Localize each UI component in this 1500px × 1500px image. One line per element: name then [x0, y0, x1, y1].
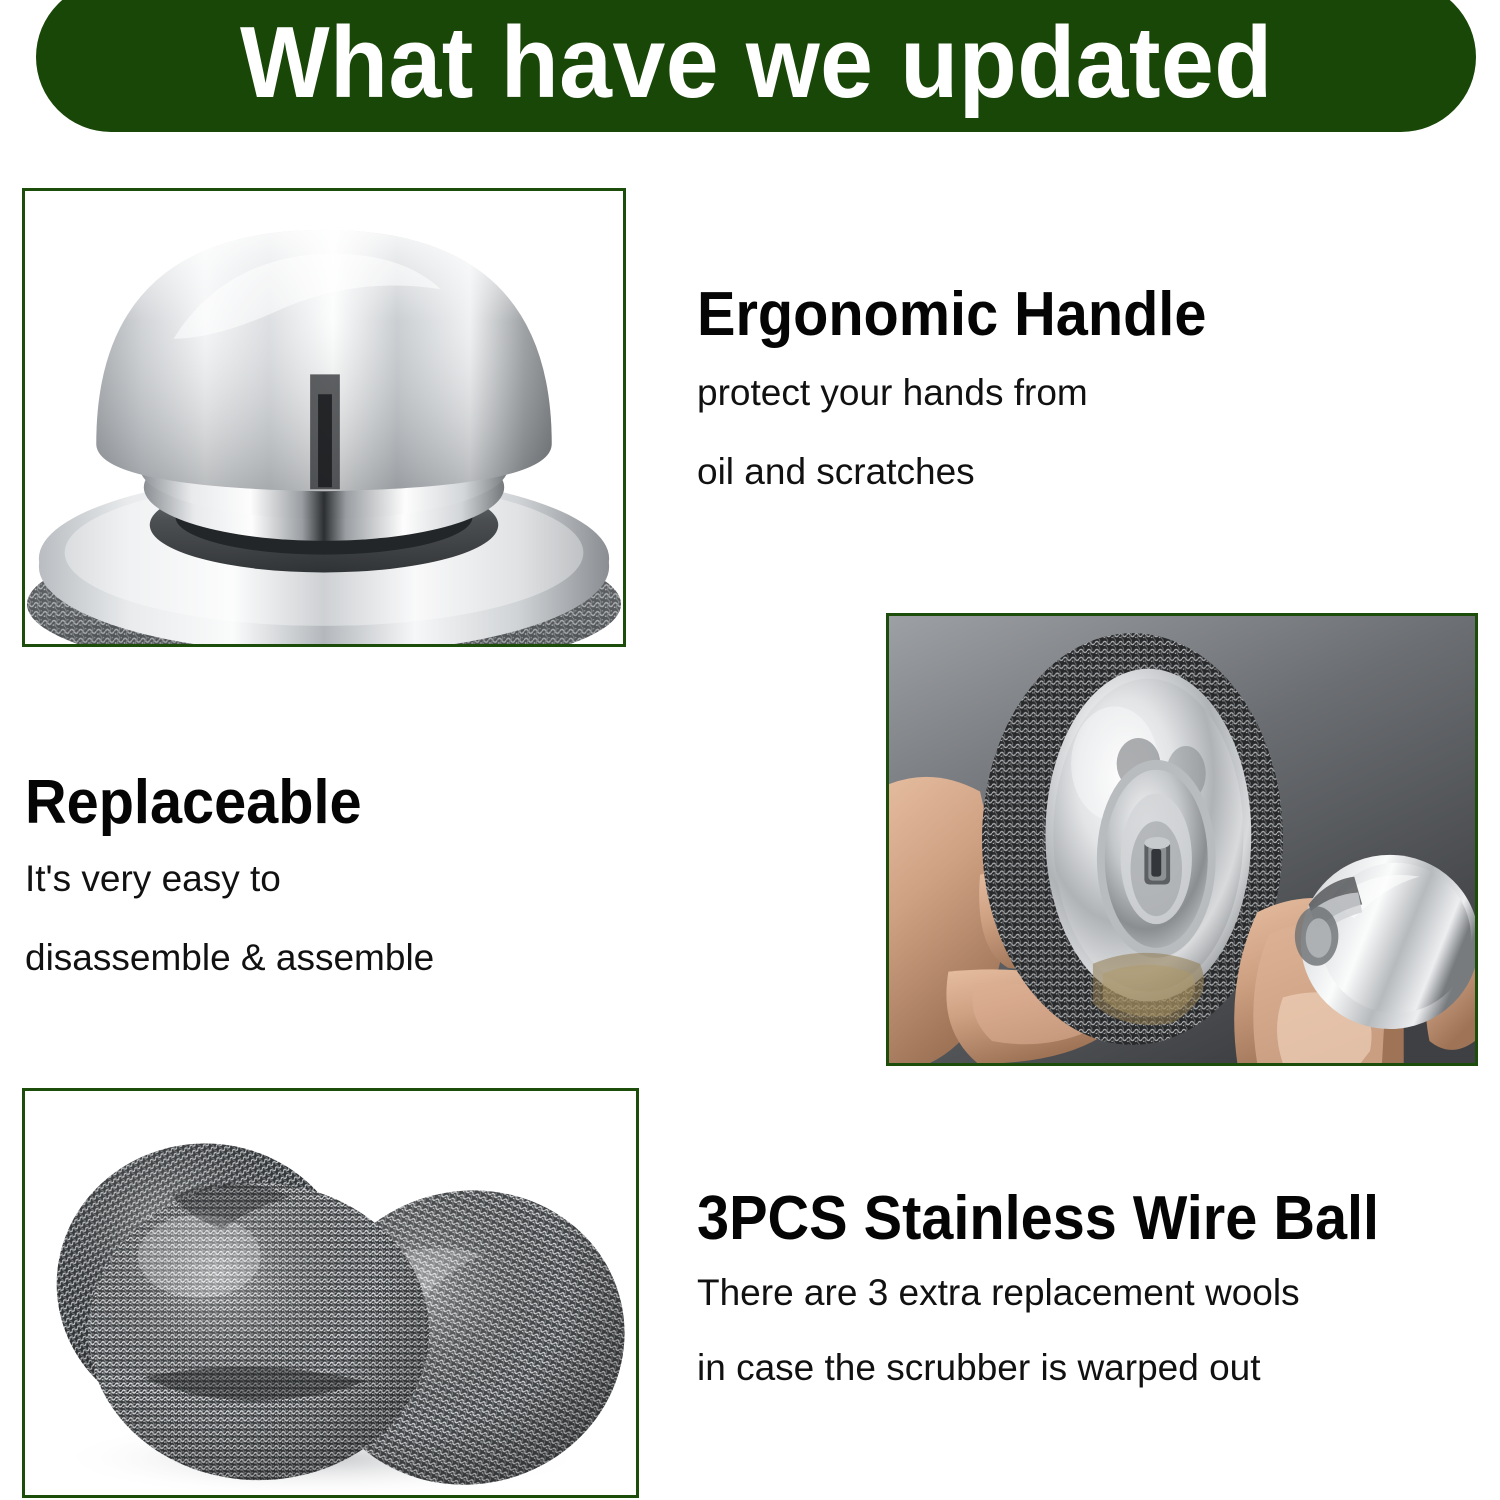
feature-body-line: It's very easy to — [25, 860, 434, 897]
assembly-illustration — [889, 616, 1475, 1063]
feature-body-line: disassemble & assemble — [25, 939, 434, 976]
screw-post — [1144, 837, 1170, 885]
header-banner: What have we updated — [36, 0, 1476, 132]
feature-heading-replaceable: Replaceable — [25, 770, 406, 836]
wire-ball-front — [88, 1183, 429, 1480]
feature-heading-wire-ball: 3PCS Stainless Wire Ball — [697, 1186, 1379, 1252]
feature-body-line: There are 3 extra replacement wools — [697, 1274, 1430, 1311]
page-title: What have we updated — [240, 1, 1273, 114]
feature-image-wire-ball — [22, 1088, 639, 1498]
feature-heading-ergonomic-handle: Ergonomic Handle — [697, 282, 1206, 348]
feature-image-replaceable — [886, 613, 1478, 1066]
feature-body-line: in case the scrubber is warped out — [697, 1349, 1430, 1386]
feature-text-wire-ball: 3PCS Stainless Wire Ball There are 3 ext… — [697, 1186, 1430, 1424]
feature-text-ergonomic-handle: Ergonomic Handle protect your hands from… — [697, 282, 1245, 490]
feature-text-replaceable: Replaceable It's very easy to disassembl… — [25, 770, 434, 976]
handle-illustration — [25, 191, 623, 644]
feature-body-line: oil and scratches — [697, 453, 1245, 490]
feature-image-ergonomic-handle — [22, 188, 626, 647]
wire-balls-illustration — [25, 1091, 636, 1495]
feature-body-line: protect your hands from — [697, 374, 1245, 411]
